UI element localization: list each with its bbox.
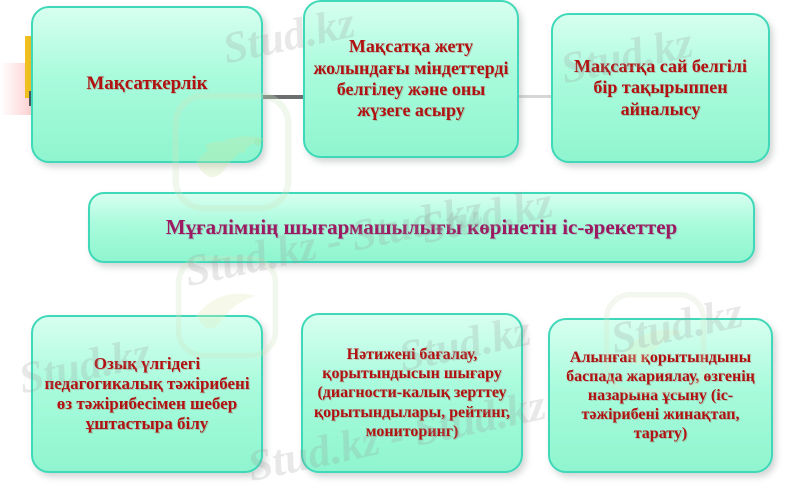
flow-box-label: Нәтижені бағалау, қорытындысын шығару (д… xyxy=(303,345,521,440)
flow-box-label: Озық үлгідегі педагогикалық тәжірибені ө… xyxy=(33,354,261,435)
flow-box-maqsatkerlik: Мақсаткерлік xyxy=(31,6,263,163)
flow-box-publication-dissemination: Алынған қорытындыны баспада жариялау, өз… xyxy=(548,318,773,473)
flow-box-label: Алынған қорытындыны баспада жариялау, өз… xyxy=(550,348,771,443)
banner-teacher-creativity: Мұғалімнің шығармашылығы көрінетін іс-әр… xyxy=(88,192,755,263)
flow-box-label: Мақсаткерлік xyxy=(78,73,215,96)
flow-box-tasks-definition: Мақсатқа жету жолындағы міндеттерді белг… xyxy=(303,0,519,158)
flow-box-best-practice: Озық үлгідегі педагогикалық тәжірибені ө… xyxy=(31,315,263,473)
flow-box-result-evaluation: Нәтижені бағалау, қорытындысын шығару (д… xyxy=(301,313,523,473)
flow-box-label: Мақсатқа жету жолындағы міндеттерді белг… xyxy=(305,36,517,122)
flow-box-label: Мақсатқа сай белгілі бір тақырыппен айна… xyxy=(553,56,768,120)
flow-box-topic-focus: Мақсатқа сай белгілі бір тақырыппен айна… xyxy=(551,13,770,163)
banner-label: Мұғалімнің шығармашылығы көрінетін іс-әр… xyxy=(158,215,685,240)
